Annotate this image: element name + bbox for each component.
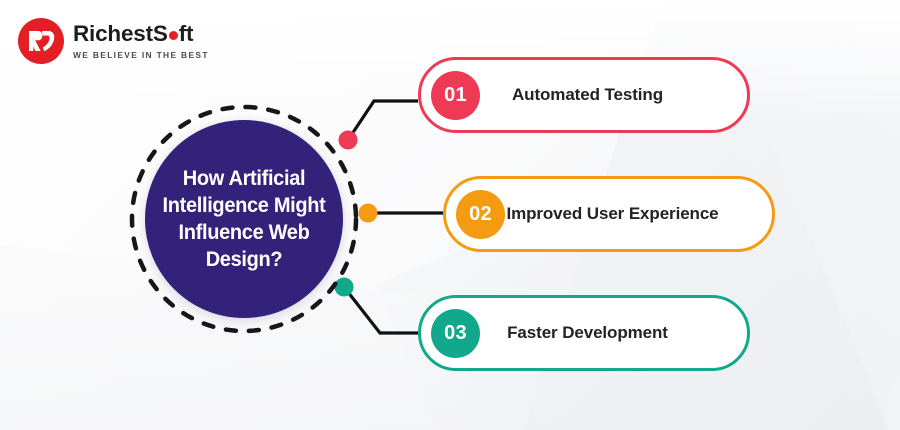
point-label-2: Improved User Experience <box>505 203 772 225</box>
point-label-3: Faster Development <box>480 322 747 344</box>
connector-node-2 <box>359 204 378 223</box>
point-label-1: Automated Testing <box>480 84 747 106</box>
point-number-badge-3: 03 <box>431 309 480 358</box>
hub-title: How Artificial Intelligence Might Influe… <box>161 165 327 273</box>
hub-circle: How Artificial Intelligence Might Influe… <box>145 120 343 318</box>
infographic-canvas: RichestS ft WE BELIEVE IN THE BEST How A… <box>0 0 900 430</box>
point-number-badge-2: 02 <box>456 190 505 239</box>
point-card-3[interactable]: 03 Faster Development <box>418 295 750 371</box>
point-card-1[interactable]: 01 Automated Testing <box>418 57 750 133</box>
point-number-badge-1: 01 <box>431 71 480 120</box>
point-card-2[interactable]: 02 Improved User Experience <box>443 176 775 252</box>
central-hub: How Artificial Intelligence Might Influe… <box>128 103 360 335</box>
